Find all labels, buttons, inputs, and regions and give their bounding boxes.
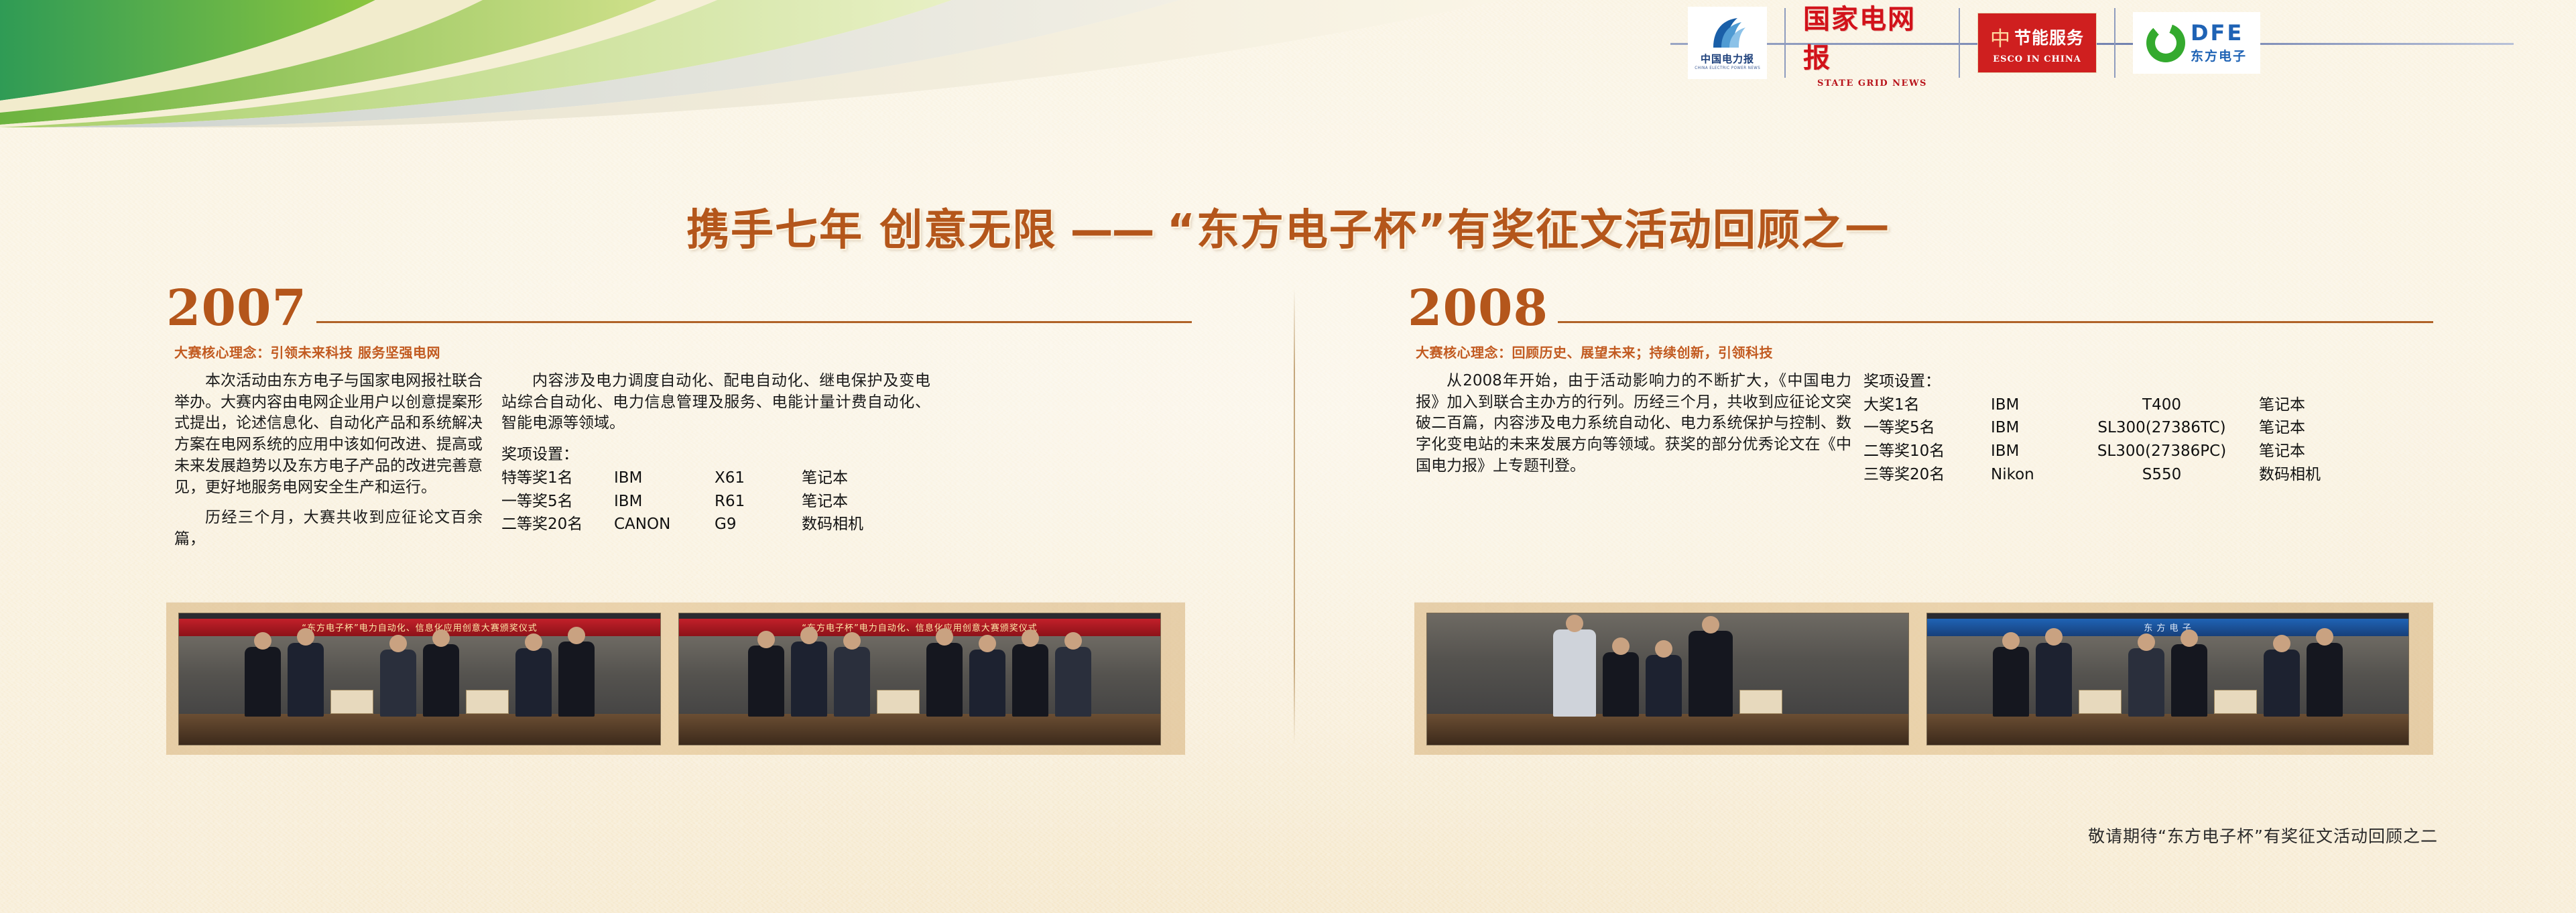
photo-award-ceremony-2: “东方电子杯”电力自动化、信息化应用创意大赛颁奖仪式 [678, 613, 1161, 745]
person [1689, 631, 1733, 717]
table-row: 一等奖5名 IBM R61 笔记本 [501, 491, 863, 514]
award-item: 笔记本 [2259, 417, 2321, 440]
person [834, 647, 870, 717]
person [558, 642, 595, 717]
award-brand: IBM [1991, 440, 2065, 464]
photo-banner-text: 东 方 电 子 [1927, 619, 2408, 636]
award-brand: IBM [1991, 394, 2065, 418]
title-sub: “东方电子杯”有奖征文活动回顾之一 [1167, 206, 1890, 255]
award-level: 三等奖20名 [1863, 464, 1991, 487]
award-item: 数码相机 [802, 513, 863, 537]
award-level: 二等奖10名 [1863, 440, 1991, 464]
award-model: G9 [715, 513, 802, 537]
concept-2008: 大赛核心理念：回顾历史、展望未来；持续创新，引领科技 [1416, 342, 2433, 361]
table-row: 三等奖20名 Nikon S550 数码相机 [1863, 464, 2321, 487]
award-plaque [2079, 690, 2122, 714]
section-2008: 2008 大赛核心理念：回顾历史、展望未来；持续创新，引领科技 从2008年开始… [1408, 282, 2433, 487]
sgn-en-label: STATE GRID NEWS [1817, 78, 1927, 88]
sponsor-logo-bar: 中国电力报 CHINA ELECTRIC POWER NEWS 国家电网报 ST… [1665, 5, 2530, 80]
concept-2007: 大赛核心理念：引领未来科技 服务坚强电网 [174, 342, 1192, 361]
photo-table [679, 714, 1160, 745]
awards-block-2007: 奖项设置： 特等奖1名 IBM X61 笔记本 一等奖5名 IBM R61 笔记… [501, 444, 930, 537]
person [1646, 655, 1682, 717]
person [926, 643, 963, 717]
photo-people-group [1927, 636, 2408, 717]
cepn-mark-icon [1707, 15, 1748, 50]
paragraph: 内容涉及电力调度自动化、配电自动化、继电保护及变电站综合自动化、电力信息管理及服… [501, 371, 930, 434]
paragraph: 本次活动由东方电子与国家电网报社联合举办。大赛内容由电网企业用户以创意提案形式提… [174, 371, 483, 498]
dfe-cn-label: 东方电子 [2191, 46, 2247, 64]
person [288, 643, 324, 717]
table-row: 大奖1名 IBM T400 笔记本 [1863, 394, 2321, 418]
paragraph: 从2008年开始，由于活动影响力的不断扩大，《中国电力报》加入到联合主办方的行列… [1416, 371, 1851, 477]
cepn-cn-label: 中国电力报 [1701, 52, 1754, 66]
award-brand: IBM [1991, 417, 2065, 440]
award-plaque [2214, 690, 2257, 714]
year-label-2007: 2007 [166, 286, 307, 331]
title-dash: —— [1056, 206, 1167, 255]
award-model: S550 [2065, 464, 2259, 487]
award-item: 笔记本 [802, 491, 863, 514]
photo-banner-text: “东方电子杯”电力自动化、信息化应用创意大赛颁奖仪式 [679, 619, 1160, 636]
body-right-2007: 内容涉及电力调度自动化、配电自动化、继电保护及变电站综合自动化、电力信息管理及服… [501, 371, 930, 560]
photo-award-ceremony-1: “东方电子杯”电力自动化、信息化应用创意大赛颁奖仪式 [178, 613, 661, 745]
person [1055, 647, 1091, 717]
body-right-2008: 奖项设置： 大奖1名 IBM T400 笔记本 一等奖5名 IBM SL300(… [1863, 371, 2427, 487]
esco-glyph-icon: 中 [1990, 22, 2010, 52]
award-level: 一等奖5名 [501, 491, 614, 514]
award-plaque [877, 690, 920, 714]
logo-esco-in-china: 中 节能服务 ESCO IN CHINA [1959, 8, 2114, 78]
award-plaque [466, 690, 509, 714]
equipment [1739, 690, 1782, 714]
green-swoosh-decoration [0, 0, 1743, 127]
person [1553, 629, 1596, 717]
table-row: 二等奖10名 IBM SL300(27386PC) 笔记本 [1863, 440, 2321, 464]
award-level: 一等奖5名 [1863, 417, 1991, 440]
award-item: 笔记本 [802, 467, 863, 491]
person [2264, 650, 2300, 717]
award-level: 大奖1名 [1863, 394, 1991, 418]
award-level: 特等奖1名 [501, 467, 614, 491]
person [969, 650, 1005, 717]
award-brand: IBM [614, 491, 715, 514]
logo-china-electric-power-news: 中国电力报 CHINA ELECTRIC POWER NEWS [1670, 8, 1784, 78]
person [1012, 644, 1048, 717]
person [791, 642, 827, 717]
award-model: SL300(27386TC) [2065, 417, 2259, 440]
person [2128, 648, 2164, 717]
dfe-en-label: DFE [2191, 22, 2244, 44]
awards-table-2007: 特等奖1名 IBM X61 笔记本 一等奖5名 IBM R61 笔记本 二等奖2… [501, 467, 863, 537]
photo-banner-text: “东方电子杯”电力自动化、信息化应用创意大赛颁奖仪式 [179, 619, 660, 636]
award-item: 笔记本 [2259, 440, 2321, 464]
footer-note: 敬请期待“东方电子杯”有奖征文活动回顾之二 [0, 823, 2576, 847]
award-item: 笔记本 [2259, 394, 2321, 418]
year-heading-row-2007: 2007 [166, 282, 1192, 331]
person [380, 650, 416, 717]
esco-en-label: ESCO IN CHINA [1993, 54, 2081, 64]
title-main: 携手七年 创意无限 [686, 206, 1056, 255]
body-left-2008: 从2008年开始，由于活动影响力的不断扩大，《中国电力报》加入到联合主办方的行列… [1416, 371, 1851, 487]
photo-people-group [679, 636, 1160, 717]
photo-people-group [179, 636, 660, 717]
table-row: 一等奖5名 IBM SL300(27386TC) 笔记本 [1863, 417, 2321, 440]
table-row: 二等奖20名 CANON G9 数码相机 [501, 513, 863, 537]
table-row: 特等奖1名 IBM X61 笔记本 [501, 467, 863, 491]
photo-table [1427, 714, 1908, 745]
photo-table [1927, 714, 2408, 745]
year-label-2008: 2008 [1408, 286, 1548, 331]
person [748, 646, 784, 717]
esco-cn-label: 节能服务 [2014, 25, 2084, 49]
dfe-circle-icon [2146, 23, 2185, 62]
awards-heading-2008: 奖项设置： [1863, 371, 2427, 393]
logo-dongfang-electronics: DFE 东方电子 [2114, 8, 2278, 78]
body-left-2007: 本次活动由东方电子与国家电网报社联合举办。大赛内容由电网企业用户以创意提案形式提… [174, 371, 483, 560]
person [515, 648, 552, 717]
award-model: T400 [2065, 394, 2259, 418]
award-model: R61 [715, 491, 802, 514]
sgn-cn-label: 国家电网报 [1803, 0, 1941, 75]
person [1993, 647, 2029, 717]
award-plaque [330, 690, 373, 714]
person [2036, 643, 2072, 717]
award-model: X61 [715, 467, 802, 491]
person [2171, 644, 2207, 717]
awards-block-2008: 奖项设置： 大奖1名 IBM T400 笔记本 一等奖5名 IBM SL300(… [1863, 371, 2427, 487]
year-rule-2008 [1558, 321, 2433, 323]
photo-people-group [1427, 636, 1908, 717]
section-divider [1294, 288, 1295, 744]
page-title: 携手七年 创意无限 —— “东方电子杯”有奖征文活动回顾之一 [0, 196, 2576, 257]
award-level: 二等奖20名 [501, 513, 614, 537]
year-heading-row-2008: 2008 [1408, 282, 2433, 331]
photo-visit-2: 东 方 电 子 [1926, 613, 2409, 745]
photo-visit-1 [1426, 613, 1909, 745]
award-item: 数码相机 [2259, 464, 2321, 487]
awards-heading-2007: 奖项设置： [501, 444, 930, 466]
awards-table-2008: 大奖1名 IBM T400 笔记本 一等奖5名 IBM SL300(27386T… [1863, 394, 2321, 487]
award-brand: IBM [614, 467, 715, 491]
person [423, 644, 459, 717]
cepn-en-label: CHINA ELECTRIC POWER NEWS [1695, 66, 1760, 70]
person [245, 647, 281, 717]
year-rule-2007 [316, 321, 1192, 323]
person [2307, 643, 2343, 717]
award-brand: CANON [614, 513, 715, 537]
section-2007: 2007 大赛核心理念：引领未来科技 服务坚强电网 本次活动由东方电子与国家电网… [166, 282, 1192, 560]
award-brand: Nikon [1991, 464, 2065, 487]
paragraph: 历经三个月，大赛共收到应征论文百余篇， [174, 507, 483, 550]
photo-table [179, 714, 660, 745]
photo-strip-2007: “东方电子杯”电力自动化、信息化应用创意大赛颁奖仪式 “东方电子杯”电力自动化、… [166, 602, 1185, 755]
award-model: SL300(27386PC) [2065, 440, 2259, 464]
photo-strip-2008: 东 方 电 子 [1414, 602, 2433, 755]
person [1603, 652, 1639, 717]
logo-state-grid-news: 国家电网报 STATE GRID NEWS [1784, 8, 1959, 78]
